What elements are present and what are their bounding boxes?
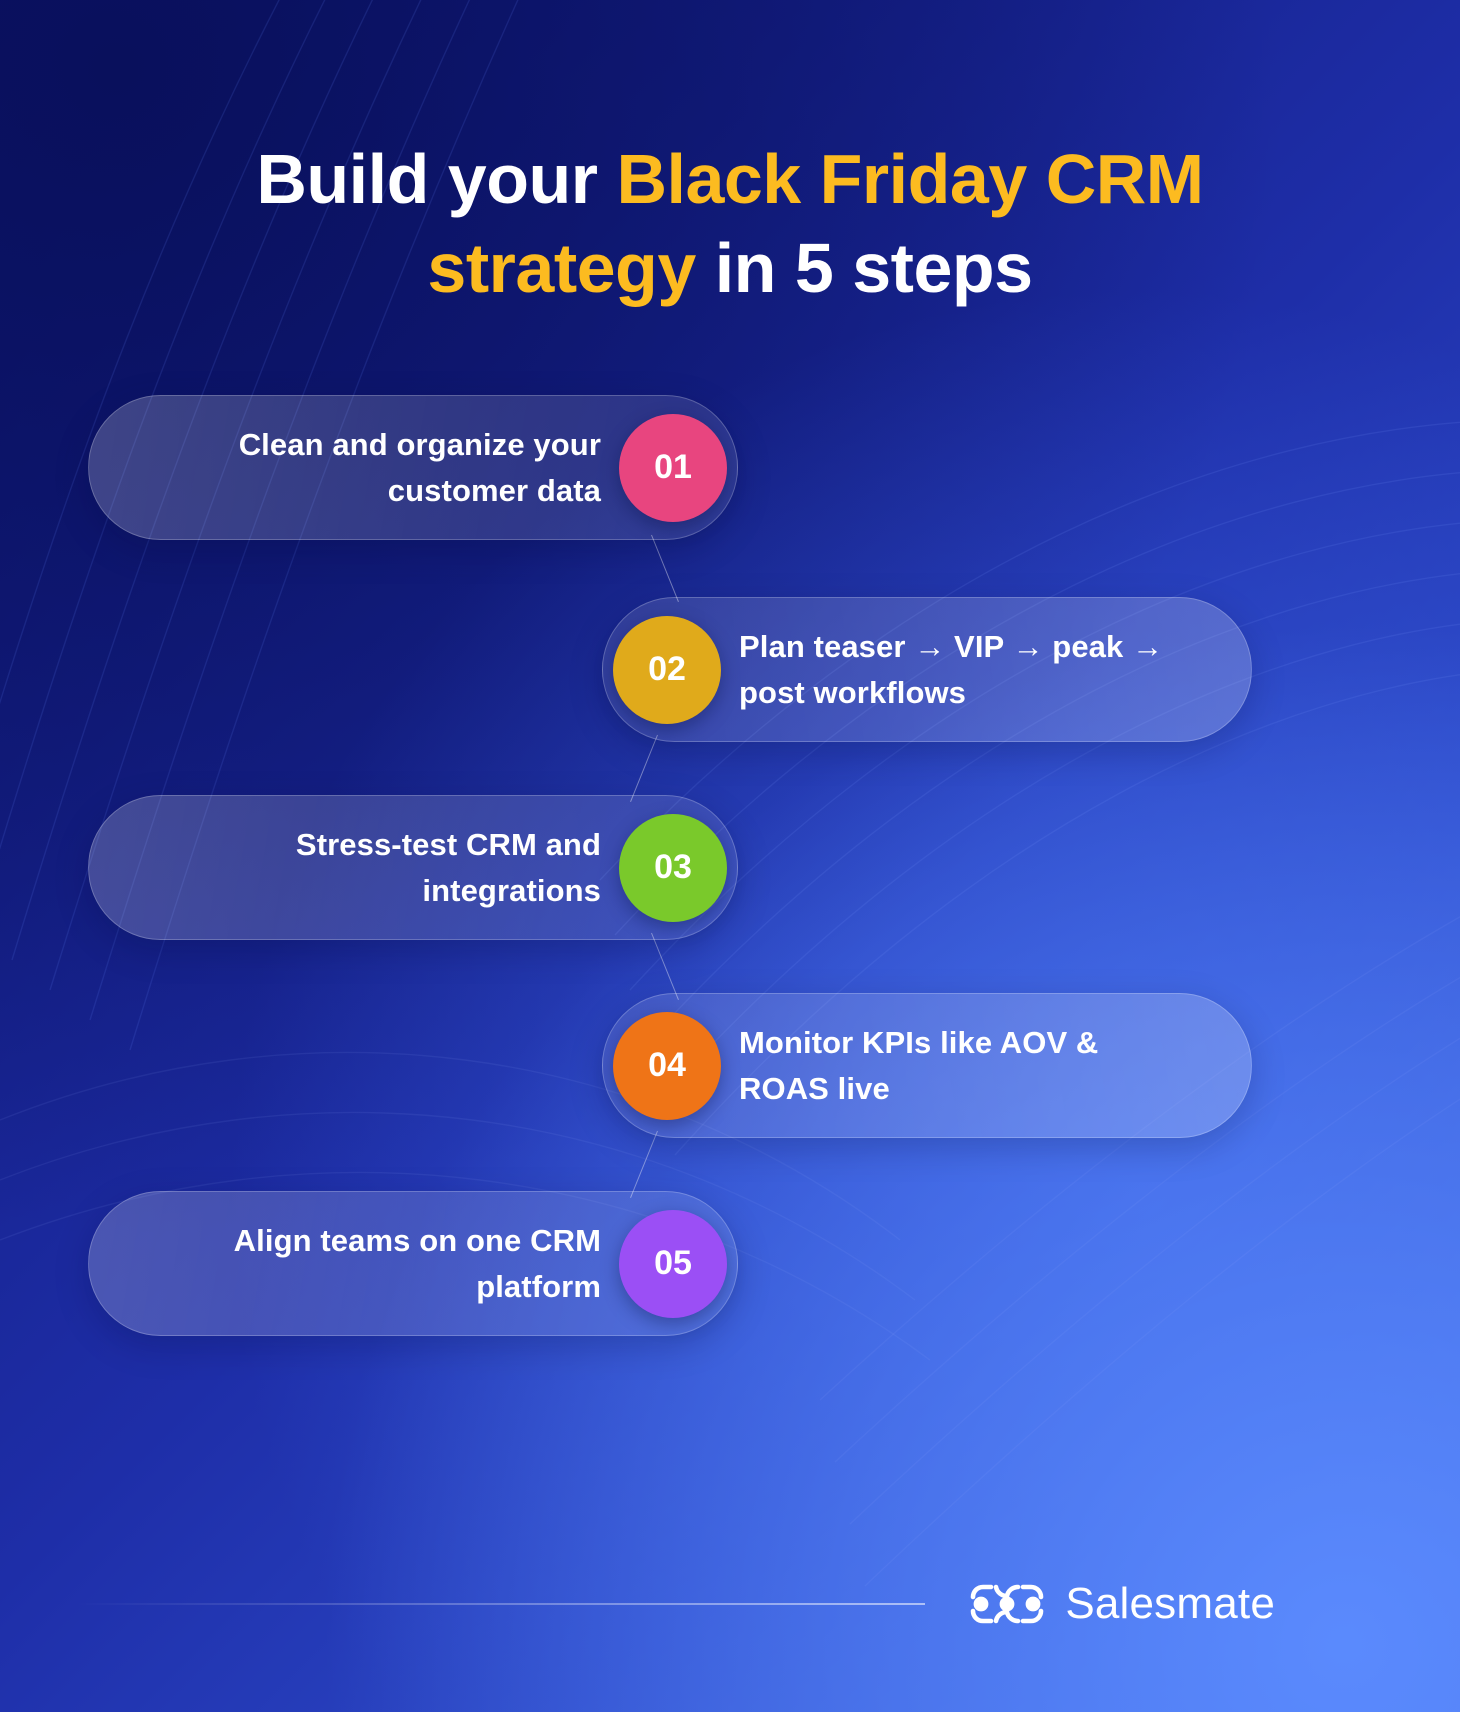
footer-divider xyxy=(75,1603,925,1605)
step-card-02[interactable]: 02 Plan teaser → VIP → peak → post workf… xyxy=(602,597,1252,742)
step-label-01: Clean and organize your customer data xyxy=(146,422,619,513)
step-card-03[interactable]: Stress-test CRM and integrations 03 xyxy=(88,795,738,940)
brand-name: Salesmate xyxy=(1065,1579,1275,1629)
connector-line-3-4 xyxy=(651,933,679,1000)
step-badge-01: 01 xyxy=(619,414,727,522)
step-label-05: Align teams on one CRM platform xyxy=(146,1218,619,1309)
headline-plain-1: Build your xyxy=(256,140,616,218)
step-badge-03: 03 xyxy=(619,814,727,922)
salesmate-logo-icon xyxy=(969,1579,1045,1629)
connector-line-4-5 xyxy=(630,1131,658,1198)
headline-plain-2: in 5 steps xyxy=(696,229,1033,307)
step-badge-02: 02 xyxy=(613,616,721,724)
step-card-01[interactable]: Clean and organize your customer data 01 xyxy=(88,395,738,540)
step-badge-05: 05 xyxy=(619,1210,727,1318)
step-label-04: Monitor KPIs like AOV & ROAS live xyxy=(721,1020,1194,1111)
step-label-02: Plan teaser → VIP → peak → post workflow… xyxy=(721,624,1194,715)
step-label-03: Stress-test CRM and integrations xyxy=(146,822,619,913)
connector-line-2-3 xyxy=(630,735,658,802)
step-badge-04: 04 xyxy=(613,1012,721,1120)
steps-list: Clean and organize your customer data 01… xyxy=(0,395,1460,1345)
step-card-04[interactable]: 04 Monitor KPIs like AOV & ROAS live xyxy=(602,993,1252,1138)
step-card-05[interactable]: Align teams on one CRM platform 05 xyxy=(88,1191,738,1336)
connector-line-1-2 xyxy=(651,535,679,602)
brand-lockup: Salesmate xyxy=(969,1579,1275,1629)
footer: Salesmate xyxy=(0,1572,1460,1636)
page-title: Build your Black Friday CRM strategy in … xyxy=(0,135,1460,313)
infographic-poster: Build your Black Friday CRM strategy in … xyxy=(0,0,1460,1712)
headline-accent-2: strategy xyxy=(427,229,695,307)
headline-accent-1: Black Friday CRM xyxy=(616,140,1203,218)
